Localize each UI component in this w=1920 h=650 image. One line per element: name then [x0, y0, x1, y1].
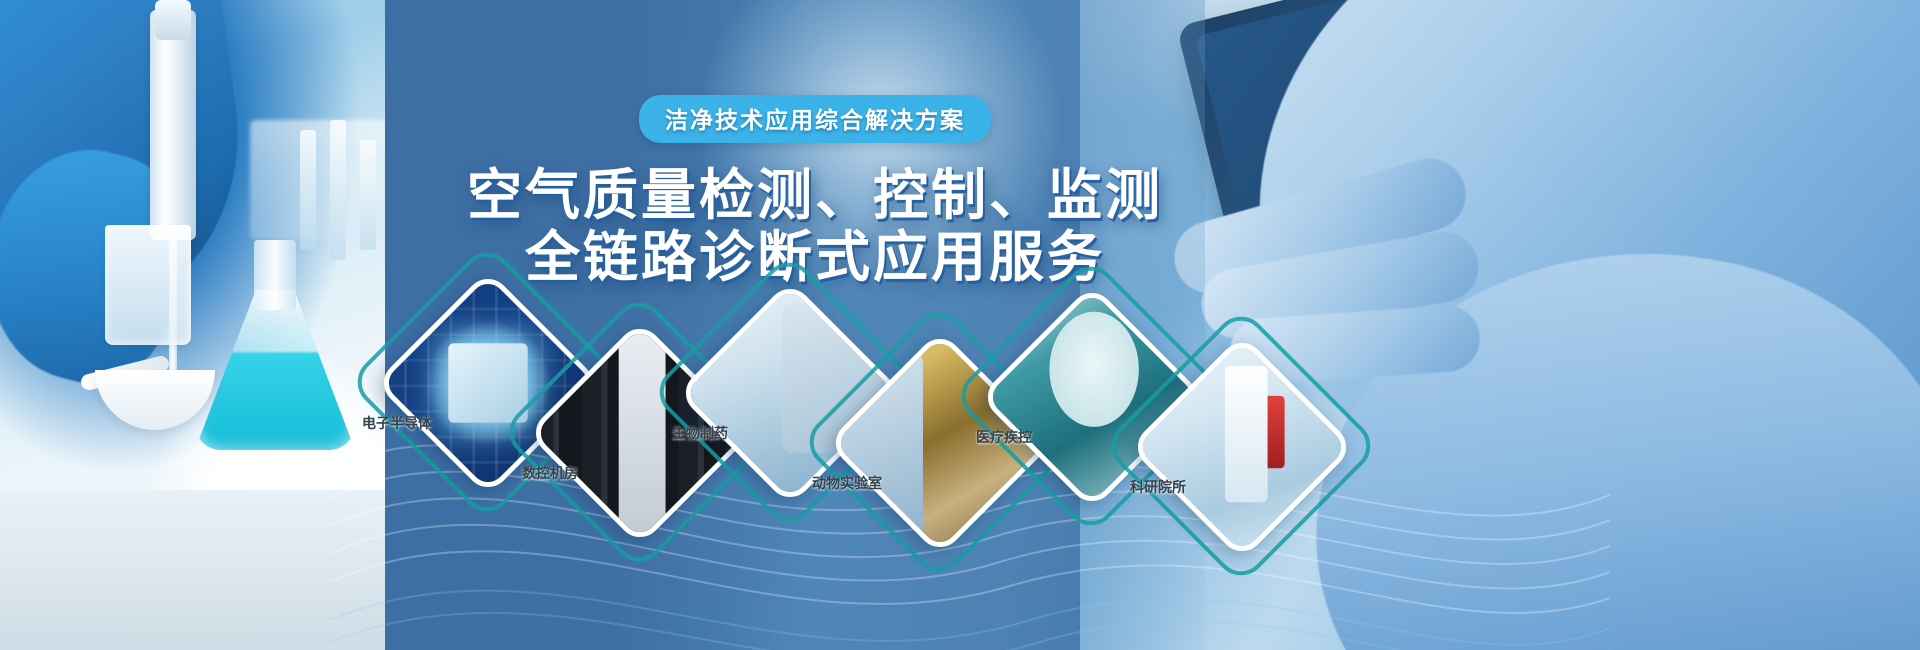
beaker-icon — [105, 225, 191, 345]
industry-card-label-3: 生物制药 — [672, 423, 728, 443]
industry-card-row: 电子半导体 数控机房 生物制药 动物实验室 医疗疾控 科研院所 — [300, 285, 1310, 535]
page-title: 空气质量检测、控制、监测 全链路诊断式应用服务 — [465, 165, 1165, 288]
flask-neck — [254, 240, 296, 310]
hero-banner: 洁净技术应用综合解决方案 空气质量检测、控制、监测 全链路诊断式应用服务 电子半… — [0, 0, 1920, 650]
hero-badge: 洁净技术应用综合解决方案 — [639, 95, 991, 143]
test-tube-3 — [360, 140, 376, 250]
industry-card-label-6: 科研院所 — [1130, 477, 1186, 497]
pipette-plunger-icon — [155, 0, 191, 40]
hero-text-block: 洁净技术应用综合解决方案 空气质量检测、控制、监测 全链路诊断式应用服务 — [465, 95, 1165, 288]
industry-card-label-5: 医疗疾控 — [976, 427, 1032, 447]
industry-card-label-1: 电子半导体 — [362, 413, 432, 433]
industry-card-label-4: 动物实验室 — [812, 473, 882, 493]
industry-card-label-2: 数控机房 — [522, 463, 578, 483]
test-tube-2 — [330, 120, 346, 260]
pipette-icon — [150, 10, 196, 240]
headline-line-1: 空气质量检测、控制、监测 — [465, 165, 1165, 227]
test-tube-1 — [300, 130, 316, 250]
